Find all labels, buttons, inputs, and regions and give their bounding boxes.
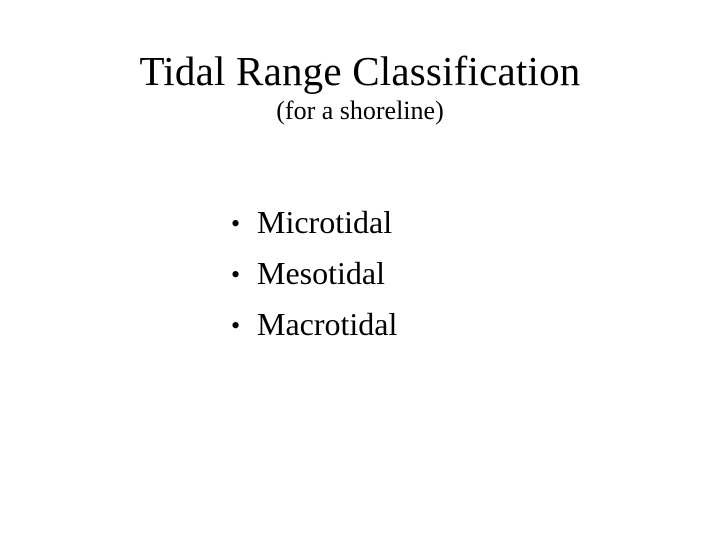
list-item: • Macrotidal xyxy=(231,306,651,357)
list-item: • Mesotidal xyxy=(231,255,651,306)
bullet-list: • Microtidal • Mesotidal • Macrotidal xyxy=(231,204,651,357)
bullet-point-icon: • xyxy=(231,308,257,344)
page-title: Tidal Range Classification xyxy=(0,48,720,94)
bullet-point-icon: • xyxy=(231,206,257,242)
list-item: • Microtidal xyxy=(231,204,651,255)
list-item-label: Macrotidal xyxy=(257,306,397,342)
title-block: Tidal Range Classification (for a shorel… xyxy=(0,48,720,126)
list-item-label: Microtidal xyxy=(257,204,392,240)
bullet-point-icon: • xyxy=(231,257,257,293)
page-subtitle: (for a shoreline) xyxy=(0,96,720,126)
slide-canvas: Tidal Range Classification (for a shorel… xyxy=(0,0,720,540)
list-item-label: Mesotidal xyxy=(257,255,385,291)
